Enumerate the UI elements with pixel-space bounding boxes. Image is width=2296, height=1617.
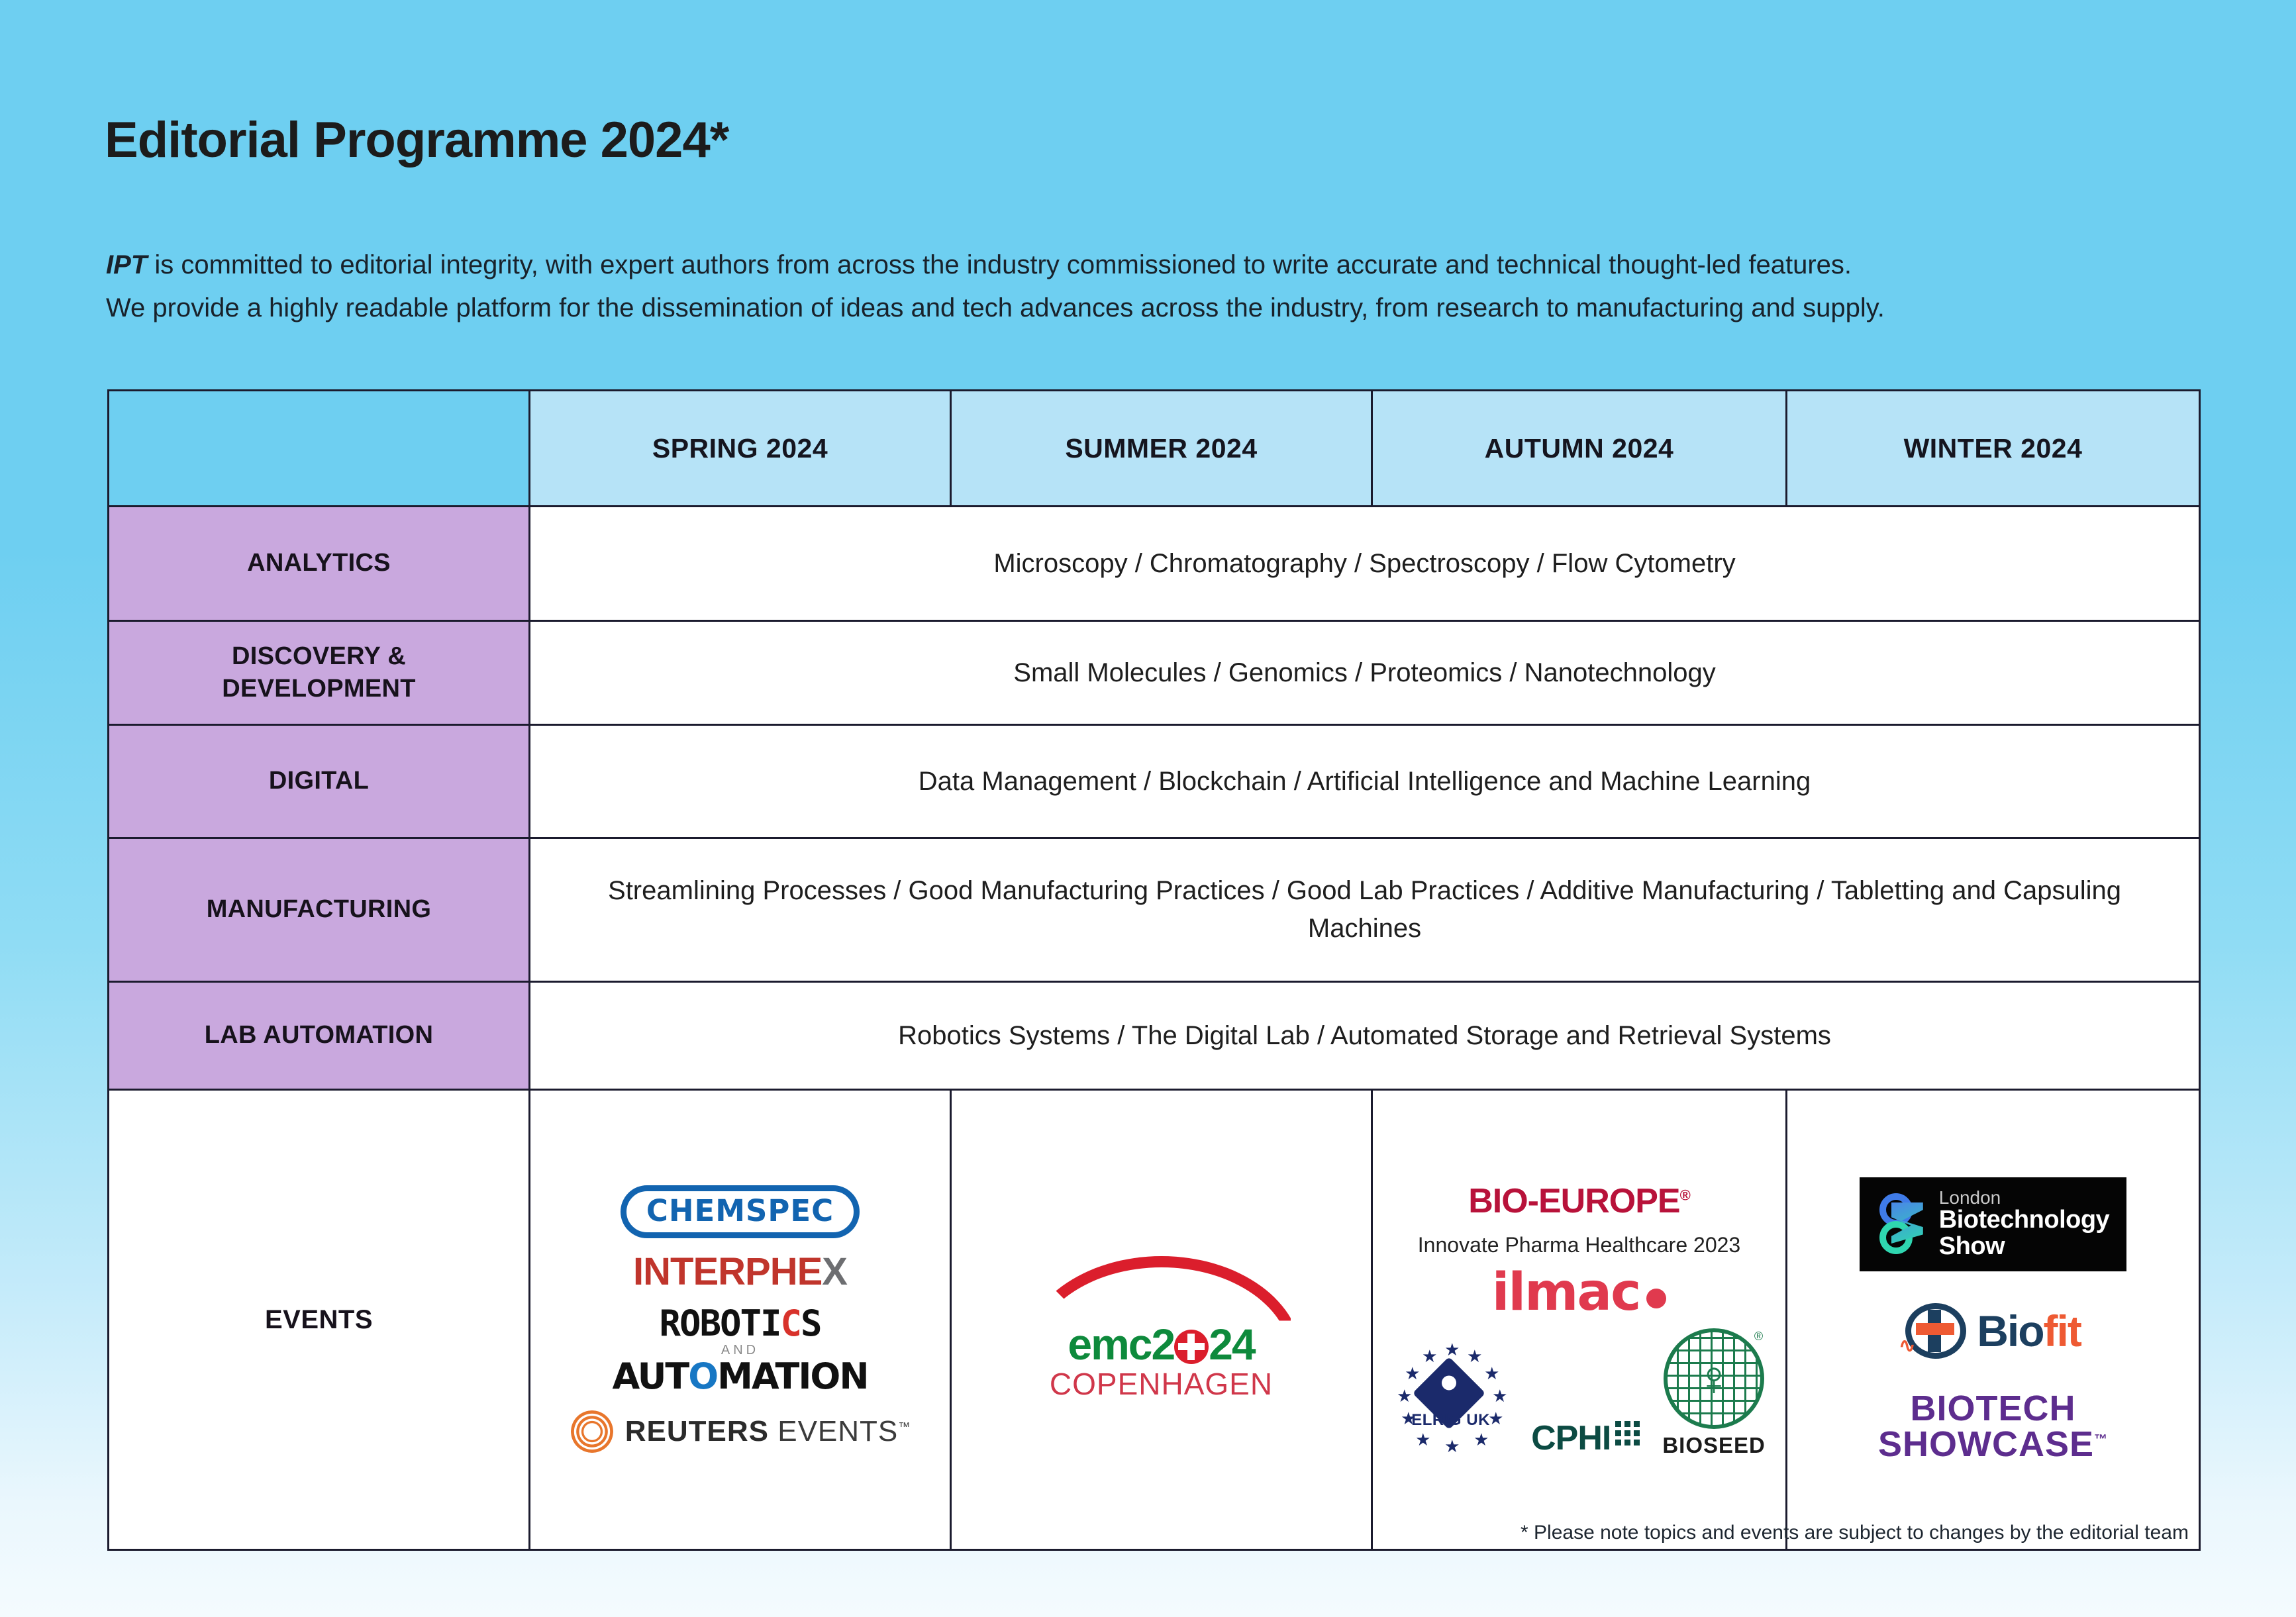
lbs-line-1: Biotechnology	[1939, 1207, 2109, 1234]
trademark-icon: ™	[898, 1420, 911, 1433]
emc-text-b: 24	[1209, 1320, 1254, 1369]
ipt-brand: IPT	[106, 250, 147, 279]
column-header-autumn: AUTUMN 2024	[1372, 391, 1787, 507]
robot-arm-icon: C	[781, 1302, 801, 1344]
emc2024-copenhagen-logo: emc224 COPENHAGEN	[1021, 1239, 1302, 1401]
emc-text-a: emc2	[1068, 1320, 1174, 1369]
intro-line-1: IPT is committed to editorial integrity,…	[106, 244, 2199, 287]
table-row-events: EVENTS CHEMSPEC INTERPHEX ROBOTICS AND A…	[109, 1090, 2200, 1550]
biofit-text-a: Bio	[1977, 1306, 2043, 1355]
elrig-uk-text: ELRIG UK	[1393, 1411, 1509, 1430]
editorial-programme-table: SPRING 2024 SUMMER 2024 AUTUMN 2024 WINT…	[107, 389, 2201, 1551]
row-topic-analytics: Microscopy / Chromatography / Spectrosco…	[530, 507, 2200, 621]
row-topic-digital: Data Management / Blockchain / Artificia…	[530, 725, 2200, 838]
automation-text-a: AUT	[612, 1355, 688, 1397]
bioseed-symbol-icon: ♀	[1695, 1354, 1732, 1403]
cphi-dots-icon	[1615, 1421, 1640, 1445]
column-header-summer: SUMMER 2024	[951, 391, 1372, 507]
interphex-main: INTERPHE	[633, 1250, 822, 1293]
chemspec-logo: CHEMSPEC	[621, 1185, 860, 1238]
innovate-pharma-healthcare-label: Innovate Pharma Healthcare 2023	[1418, 1233, 1740, 1257]
robotics-line-1: ROBOTICS	[612, 1306, 868, 1342]
london-biotechnology-show-logo: London Biotechnology Show	[1860, 1177, 2126, 1271]
trademark-icon: ™	[2094, 1432, 2108, 1447]
biofit-text: Biofit	[1977, 1309, 2081, 1353]
biofit-text-b: fit	[2044, 1306, 2081, 1355]
interphex-logo: INTERPHEX	[633, 1253, 847, 1291]
ilmac-logo: ilmac	[1492, 1269, 1667, 1316]
danish-flag-icon	[1174, 1330, 1209, 1364]
gear-icon: O	[688, 1355, 717, 1397]
reuters-events-text: REUTERS EVENTS™	[625, 1415, 911, 1448]
biotech-showcase-logo: BIOTECH SHOWCASE™	[1878, 1391, 2108, 1462]
lbs-text-block: London Biotechnology Show	[1939, 1188, 2109, 1259]
events-cell-summer: emc224 COPENHAGEN	[951, 1090, 1372, 1550]
ilmac-text: ilmac	[1492, 1263, 1640, 1322]
editorial-programme-page: Editorial Programme 2024* IPT is committ…	[0, 0, 2296, 1617]
row-label-lab-automation: LAB AUTOMATION	[109, 982, 530, 1090]
page-title: Editorial Programme 2024*	[105, 111, 728, 169]
events-cell-autumn: BIO-EUROPE® Innovate Pharma Healthcare 2…	[1372, 1090, 1787, 1550]
row-topic-lab-automation: Robotics Systems / The Digital Lab / Aut…	[530, 982, 2200, 1090]
intro-line-1-rest: is committed to editorial integrity, wit…	[147, 250, 1852, 279]
showcase-line-2-text: SHOWCASE	[1878, 1424, 2094, 1464]
table-header-row: SPRING 2024 SUMMER 2024 AUTUMN 2024 WINT…	[109, 391, 2200, 507]
events-cell-spring: CHEMSPEC INTERPHEX ROBOTICS AND AUTOMATI…	[530, 1090, 951, 1550]
column-header-winter: WINTER 2024	[1787, 391, 2200, 507]
bioseed-text: BIOSEED	[1662, 1433, 1766, 1458]
robotics-text-c: S	[801, 1302, 821, 1344]
reuters-events-logo: REUTERS EVENTS™	[570, 1409, 911, 1454]
reuters-dots-icon	[570, 1409, 615, 1454]
biofit-emblem-icon: ∿	[1905, 1303, 1966, 1359]
bio-europe-text: BIO-EUROPE	[1468, 1182, 1679, 1220]
row-topic-manufacturing: Streamlining Processes / Good Manufactur…	[530, 838, 2200, 982]
table-row: DIGITAL Data Management / Blockchain / A…	[109, 725, 2200, 838]
elrig-uk-logo: ★★★ ★★ ★★ ★★ ★★★ ELRIG UK	[1393, 1342, 1509, 1458]
footnote-text: * Please note topics and events are subj…	[1521, 1522, 2189, 1544]
robotics-text-a: ROBOTI	[659, 1302, 780, 1344]
row-label-analytics: ANALYTICS	[109, 507, 530, 621]
intro-line-2: We provide a highly readable platform fo…	[106, 287, 2199, 330]
table-row: ANALYTICS Microscopy / Chromatography / …	[109, 507, 2200, 621]
biotech-z-icon	[1877, 1192, 1926, 1255]
robotics-and-label: AND	[612, 1344, 868, 1357]
row-label-line-1: DISCOVERY &	[110, 640, 528, 673]
lbs-line-2: Show	[1939, 1234, 2109, 1260]
row-label-discovery-development: DISCOVERY & DEVELOPMENT	[109, 621, 530, 725]
interphex-accent: X	[822, 1250, 847, 1293]
ilmac-dot-icon	[1646, 1289, 1666, 1308]
table-row: DISCOVERY & DEVELOPMENT Small Molecules …	[109, 621, 2200, 725]
events-cell-winter: London Biotechnology Show ∿ Biofit BIOTE…	[1787, 1090, 2200, 1550]
row-label-events: EVENTS	[109, 1090, 530, 1550]
bio-europe-logo: BIO-EUROPE®	[1468, 1181, 1690, 1221]
bioseed-logo: ♀® BIOSEED	[1662, 1328, 1766, 1458]
row-topic-discovery-development: Small Molecules / Genomics / Proteomics …	[530, 621, 2200, 725]
table-row: MANUFACTURING Streamlining Processes / G…	[109, 838, 2200, 982]
column-header-spring: SPRING 2024	[530, 391, 951, 507]
row-label-digital: DIGITAL	[109, 725, 530, 838]
globe-icon: ♀®	[1664, 1328, 1764, 1429]
intro-paragraph: IPT is committed to editorial integrity,…	[106, 244, 2199, 330]
header-corner-cell	[109, 391, 530, 507]
lbs-city: London	[1939, 1188, 2109, 1207]
showcase-line-1: BIOTECH	[1878, 1391, 2108, 1426]
registered-icon: ®	[1680, 1187, 1690, 1204]
reuters-light: EVENTS	[777, 1415, 898, 1447]
registered-icon: ®	[1754, 1330, 1763, 1344]
automation-text-c: MATION	[717, 1355, 868, 1397]
emc-city-label: COPENHAGEN	[1021, 1367, 1302, 1401]
autumn-logo-row: ★★★ ★★ ★★ ★★ ★★★ ELRIG UK CPHI	[1379, 1328, 1779, 1458]
robotics-automation-logo: ROBOTICS AND AUTOMATION	[612, 1306, 868, 1395]
reuters-bold: REUTERS	[625, 1415, 769, 1447]
emc-line-1: emc224	[1021, 1322, 1302, 1366]
row-label-line-2: DEVELOPMENT	[110, 673, 528, 705]
showcase-line-2: SHOWCASE™	[1878, 1426, 2108, 1462]
biofit-logo: ∿ Biofit	[1905, 1303, 2081, 1359]
cphi-logo: CPHI	[1531, 1418, 1640, 1458]
cphi-text: CPHI	[1531, 1418, 1611, 1458]
table-row: LAB AUTOMATION Robotics Systems / The Di…	[109, 982, 2200, 1090]
row-label-manufacturing: MANUFACTURING	[109, 838, 530, 982]
robotics-line-2: AUTOMATION	[612, 1359, 868, 1395]
